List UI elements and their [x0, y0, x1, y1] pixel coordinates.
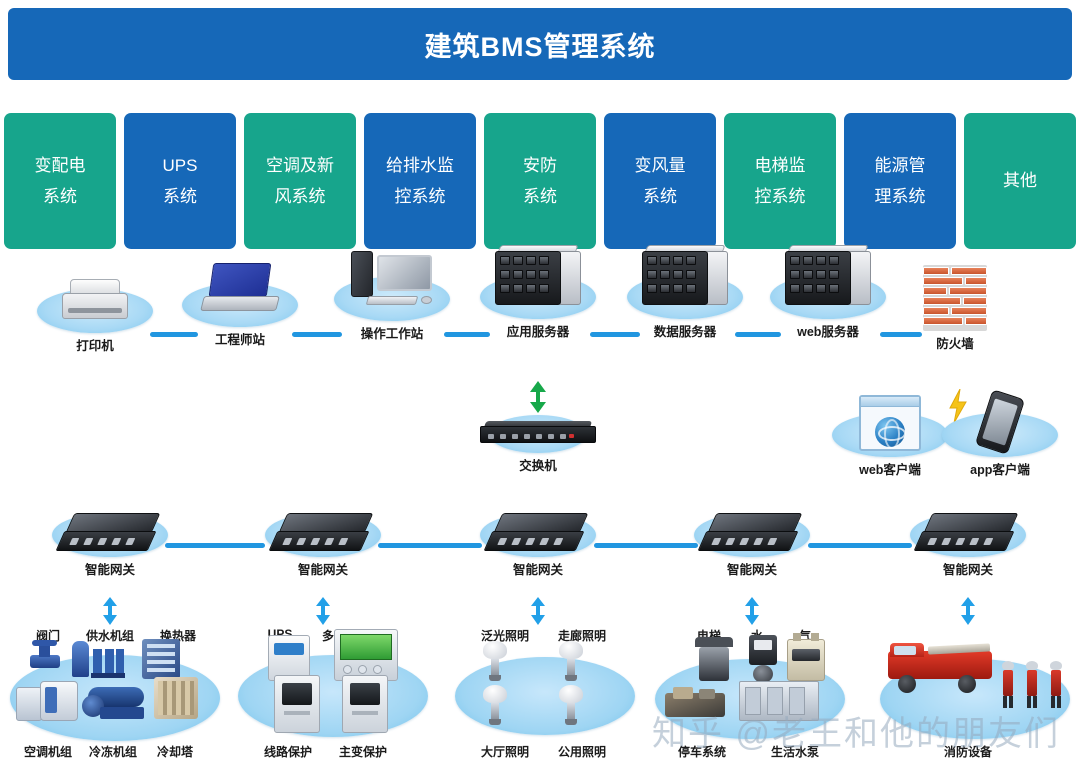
node-gateway-4[interactable]: 智能网关 [694, 513, 810, 578]
field-label-domestic-pump: 生活水泵 [771, 743, 819, 760]
subsystem-box-4[interactable]: 安防 系统 [484, 113, 596, 249]
node-platform [694, 513, 810, 557]
node-platform [942, 413, 1058, 457]
field-group-elevator-meters [655, 659, 845, 739]
printer-icon [58, 273, 132, 319]
subsystem-label-line1: 能源管 [875, 150, 926, 181]
node-label: 智能网关 [265, 559, 381, 578]
arrow-gateway3-field-icon [529, 597, 547, 625]
node-engineer-station[interactable]: 工程师站 [182, 283, 298, 348]
subsystem-label-line1: 其他 [1003, 165, 1037, 196]
node-label: web客户端 [832, 459, 948, 478]
firefighter-icon [1046, 661, 1066, 709]
node-platform [770, 275, 886, 319]
main-transformer-protection-icon [342, 675, 390, 735]
subsystem-label-line2: 控系统 [755, 181, 806, 212]
node-platform [480, 513, 596, 557]
node-platform [832, 413, 948, 457]
smart-gateway-icon [488, 513, 588, 553]
node-label: 工程师站 [182, 329, 298, 348]
node-gateway-5[interactable]: 智能网关 [910, 513, 1026, 578]
light-fixture-icon [559, 685, 583, 725]
water-meter-icon [749, 635, 779, 685]
node-label: web服务器 [770, 321, 886, 340]
domestic-water-pump-icon [739, 681, 821, 723]
firefighter-icon [1022, 661, 1042, 709]
node-platform [480, 275, 596, 319]
arrow-gateway5-field-icon [959, 597, 977, 625]
rack-server-icon [495, 247, 581, 305]
mobile-phone-icon [975, 389, 1025, 455]
subsystem-box-0[interactable]: 变配电 系统 [4, 113, 116, 249]
firewall-brick-icon [923, 265, 987, 331]
smart-gateway-icon [918, 513, 1018, 553]
page-title: 建筑BMS管理系统 [425, 25, 656, 64]
node-label: 防火墙 [897, 333, 1013, 352]
smart-gateway-icon [273, 513, 373, 553]
node-platform [52, 513, 168, 557]
water-pump-unit-icon [72, 637, 124, 679]
smart-gateway-icon [60, 513, 160, 553]
field-label-line-protection: 线路保护 [264, 743, 312, 760]
valve-icon [24, 643, 64, 677]
field-label-public-light: 公用照明 [558, 743, 606, 760]
chiller-unit-icon [82, 679, 146, 725]
subsystem-label-line2: 系统 [523, 181, 557, 212]
node-gateway-1[interactable]: 智能网关 [52, 513, 168, 578]
subsystem-box-6[interactable]: 电梯监 控系统 [724, 113, 836, 249]
subsystem-label-line1: 变风量 [635, 150, 686, 181]
line-protection-relay-icon [274, 675, 322, 735]
light-fixture-icon [483, 685, 507, 725]
field-label-ahu: 空调机组 [24, 743, 72, 760]
field-label-main-protection: 主变保护 [339, 743, 387, 760]
node-label: 智能网关 [480, 559, 596, 578]
field-label-chiller: 冷冻机组 [89, 743, 137, 760]
heat-exchanger-icon [142, 639, 182, 681]
subsystem-label-line1: 电梯监 [755, 150, 806, 181]
node-platform [37, 289, 153, 333]
node-platform [265, 513, 381, 557]
gas-meter-icon [787, 635, 827, 683]
field-label-lobby-light: 大厅照明 [481, 743, 529, 760]
node-firewall[interactable]: 防火墙 [897, 275, 1013, 352]
node-gateway-3[interactable]: 智能网关 [480, 513, 596, 578]
node-platform [334, 277, 450, 321]
arrow-gateway4-field-icon [743, 597, 761, 625]
web-browser-globe-icon [859, 395, 921, 451]
node-label: 操作工作站 [334, 323, 450, 342]
network-topology-diagram: 打印机 工程师站 操作工作站 应用 [0, 255, 1080, 771]
subsystem-label-line2: 系统 [43, 181, 77, 212]
network-switch-icon [480, 419, 596, 445]
node-platform [182, 283, 298, 327]
link-gateway-1-2 [165, 543, 265, 548]
node-label: 智能网关 [52, 559, 168, 578]
desktop-pc-icon [349, 251, 435, 307]
laptop-icon [201, 263, 279, 313]
node-platform [489, 415, 587, 453]
subsystem-box-1[interactable]: UPS 系统 [124, 113, 236, 249]
node-gateway-2[interactable]: 智能网关 [265, 513, 381, 578]
node-application-server[interactable]: 应用服务器 [480, 275, 596, 340]
field-label-tower: 冷却塔 [157, 743, 193, 760]
rack-server-icon [785, 247, 871, 305]
subsystem-label-line2: 风系统 [275, 181, 326, 212]
light-fixture-icon [559, 641, 583, 681]
node-label: 打印机 [37, 335, 153, 354]
node-operator-workstation[interactable]: 操作工作站 [334, 277, 450, 342]
ahu-unit-icon [16, 677, 78, 725]
node-platform [910, 513, 1026, 557]
subsystem-label-line2: 控系统 [395, 181, 446, 212]
cooling-tower-icon [154, 677, 200, 723]
node-label: 智能网关 [910, 559, 1026, 578]
subsystem-label-line1: 给排水监 [386, 150, 454, 181]
node-label: 交换机 [489, 455, 587, 474]
subsystem-box-8[interactable]: 其他 [964, 113, 1076, 249]
subsystem-label-line1: 空调及新 [266, 150, 334, 181]
parking-system-icon [665, 685, 727, 721]
node-data-server[interactable]: 数据服务器 [627, 275, 743, 340]
field-label-parking-system: 停车系统 [678, 743, 726, 760]
field-group-power-ups [238, 655, 428, 737]
subsystem-box-5[interactable]: 变风量 系统 [604, 113, 716, 249]
subsystem-label-line1: UPS [163, 150, 198, 181]
node-label: app客户端 [942, 459, 1058, 478]
fire-truck-icon [888, 637, 998, 693]
rack-server-icon [642, 247, 728, 305]
subsystem-label-line2: 系统 [163, 181, 197, 212]
smart-gateway-icon [702, 513, 802, 553]
node-switch[interactable]: 交换机 [489, 415, 587, 474]
node-platform [627, 275, 743, 319]
page-title-bar: 建筑BMS管理系统 [8, 8, 1072, 80]
link-gateway-2-3 [378, 543, 482, 548]
subsystem-box-row: 变配电 系统 UPS 系统 空调及新 风系统 给排水监 控系统 安防 系统 变风… [4, 113, 1076, 249]
node-label: 智能网关 [694, 559, 810, 578]
firefighter-icon [998, 661, 1018, 709]
light-fixture-icon [483, 641, 507, 681]
node-printer[interactable]: 打印机 [37, 289, 153, 354]
subsystem-box-2[interactable]: 空调及新 风系统 [244, 113, 356, 249]
arrow-gateway2-field-icon [314, 597, 332, 625]
subsystem-box-7[interactable]: 能源管 理系统 [844, 113, 956, 249]
elevator-machine-icon [691, 637, 737, 685]
link-gateway-4-5 [808, 543, 912, 548]
node-web-server[interactable]: web服务器 [770, 275, 886, 340]
arrow-gateway1-field-icon [101, 597, 119, 625]
link-gateway-3-4 [594, 543, 698, 548]
subsystem-label-line1: 变配电 [35, 150, 86, 181]
subsystem-label-line2: 系统 [643, 181, 677, 212]
field-group-fire-safety [880, 659, 1070, 739]
node-label: 应用服务器 [480, 321, 596, 340]
field-group-hvac-water [10, 655, 216, 741]
subsystem-label-line1: 安防 [523, 150, 557, 181]
subsystem-box-3[interactable]: 给排水监 控系统 [364, 113, 476, 249]
node-web-client[interactable]: web客户端 [832, 413, 948, 478]
node-platform [455, 657, 635, 735]
node-app-client[interactable]: app客户端 [942, 413, 1058, 478]
arrow-appserver-switch-icon [529, 381, 547, 413]
field-group-lighting [455, 657, 635, 735]
node-label: 数据服务器 [627, 321, 743, 340]
field-label-fire-equipment: 消防设备 [944, 743, 992, 760]
subsystem-label-line2: 理系统 [875, 181, 926, 212]
